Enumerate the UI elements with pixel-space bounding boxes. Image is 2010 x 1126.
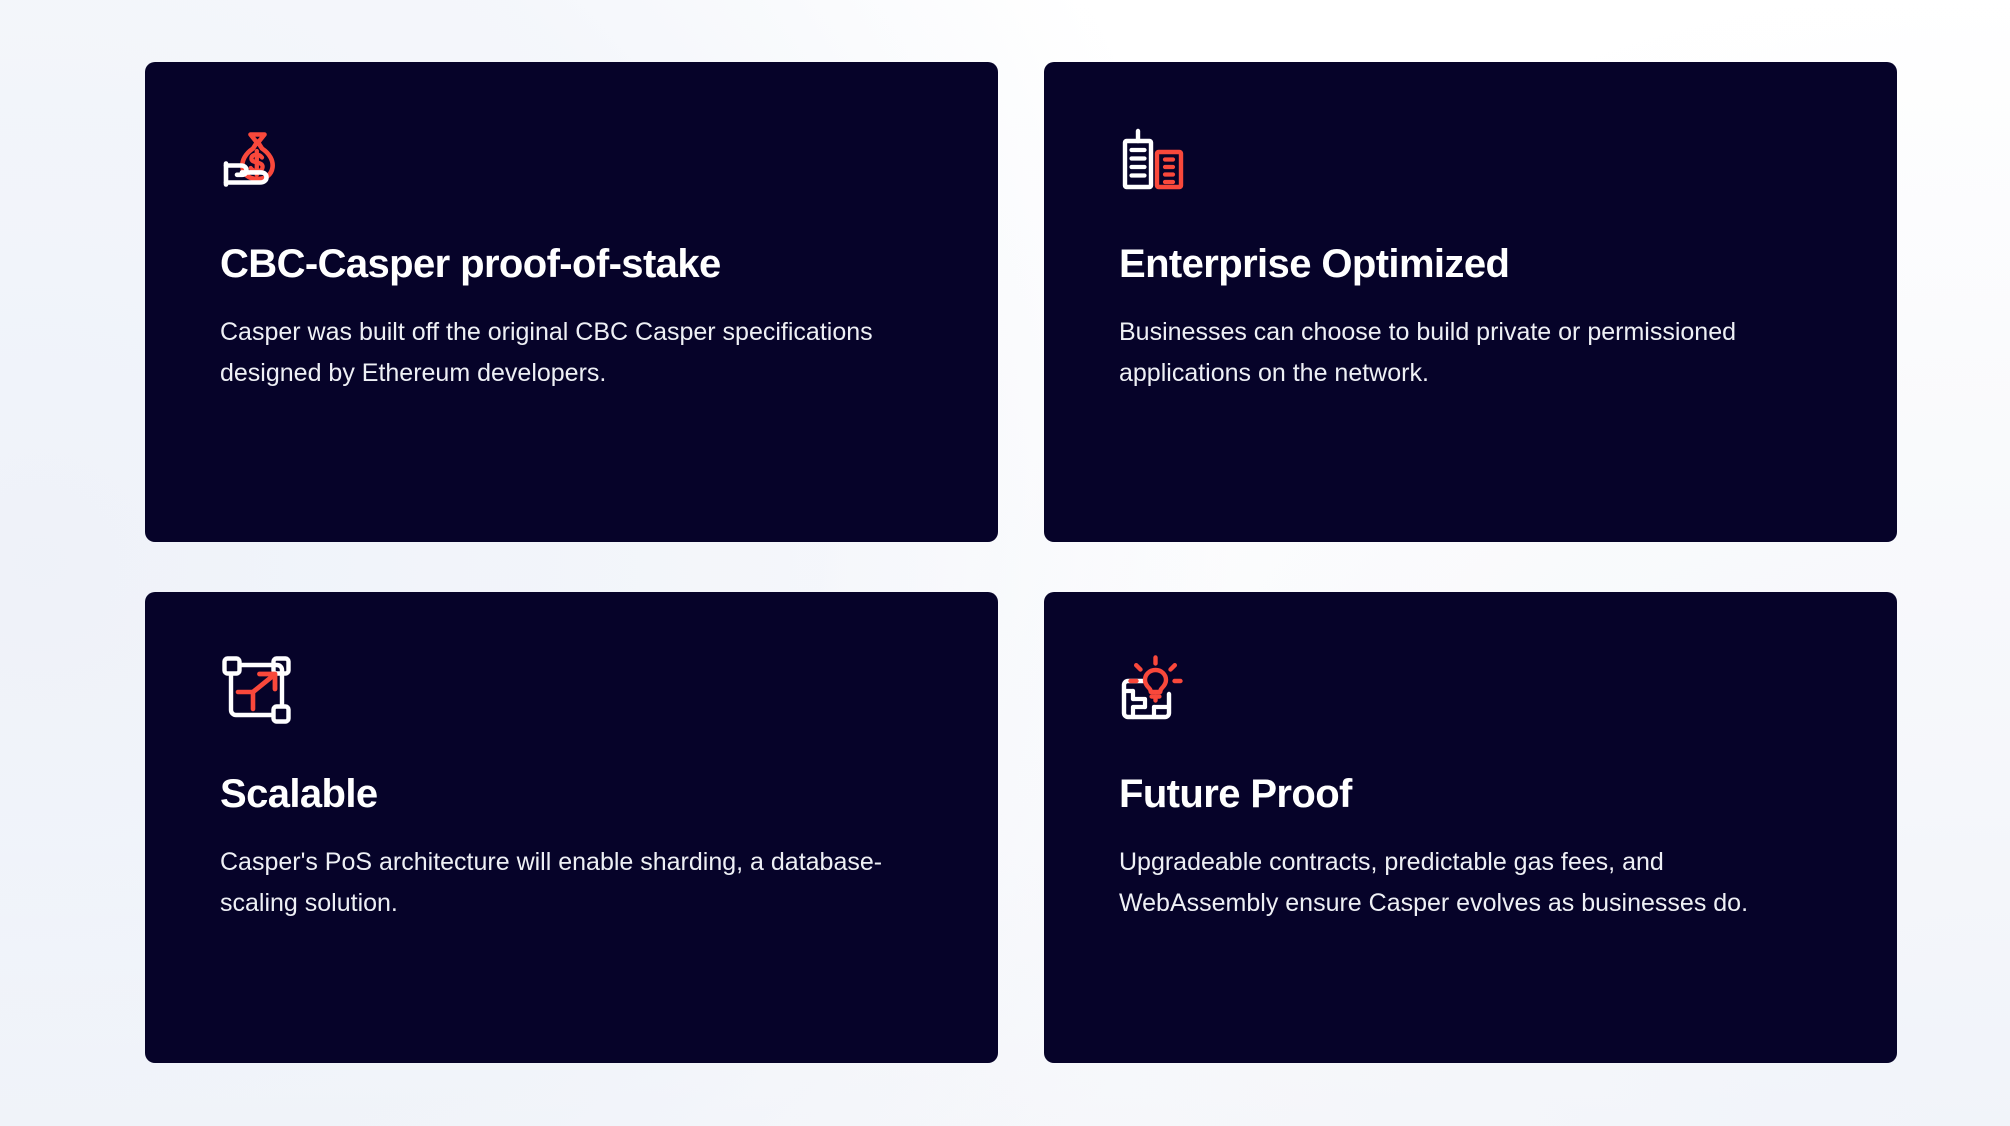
feature-card-enterprise-optimized[interactable]: Enterprise Optimized Businesses can choo… <box>1044 62 1897 542</box>
feature-card-scalable[interactable]: Scalable Casper's PoS architecture will … <box>145 592 998 1063</box>
feature-card-cbc-casper[interactable]: CBC-Casper proof-of-stake Casper was bui… <box>145 62 998 542</box>
card-title: CBC-Casper proof-of-stake <box>220 242 998 286</box>
card-description: Casper was built off the original CBC Ca… <box>220 312 900 393</box>
card-description: Casper's PoS architecture will enable sh… <box>220 842 900 923</box>
card-title: Future Proof <box>1119 772 1897 816</box>
card-description: Upgradeable contracts, predictable gas f… <box>1119 842 1819 923</box>
feature-card-grid: CBC-Casper proof-of-stake Casper was bui… <box>145 62 1897 1063</box>
lightbulb-circuit-icon <box>1119 654 1191 726</box>
feature-card-future-proof[interactable]: Future Proof Upgradeable contracts, pred… <box>1044 592 1897 1063</box>
card-description: Businesses can choose to build private o… <box>1119 312 1819 393</box>
card-title: Enterprise Optimized <box>1119 242 1897 286</box>
scale-expand-arrow-icon <box>220 654 292 726</box>
money-bag-in-hand-icon <box>220 124 292 196</box>
card-title: Scalable <box>220 772 998 816</box>
office-buildings-icon <box>1119 124 1191 196</box>
